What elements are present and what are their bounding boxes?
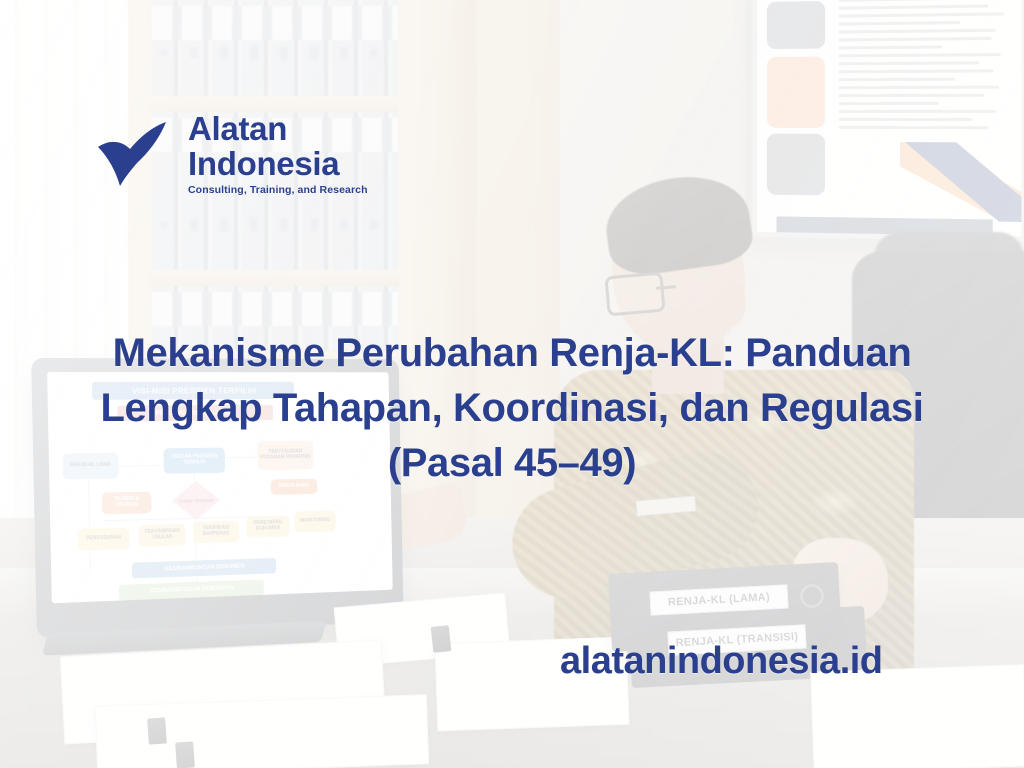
brand-name-line2: Indonesia — [188, 147, 368, 180]
foreground-layer: Alatan Indonesia Consulting, Training, a… — [0, 0, 1024, 768]
brand-name-line1: Alatan — [188, 112, 368, 145]
bird-swoosh-icon — [96, 121, 178, 187]
featured-image-banner: VISI-MISI PRESIDEN TERPILIH PERUBAHAN KE… — [0, 0, 1024, 768]
page-title: Mekanisme Perubahan Renja-KL: Panduan Le… — [62, 326, 962, 492]
website-url[interactable]: alatanindonesia.id — [560, 640, 980, 683]
brand-tagline: Consulting, Training, and Research — [188, 185, 368, 196]
brand-wordmark: Alatan Indonesia Consulting, Training, a… — [188, 112, 368, 196]
brand-logo[interactable]: Alatan Indonesia Consulting, Training, a… — [96, 112, 368, 196]
